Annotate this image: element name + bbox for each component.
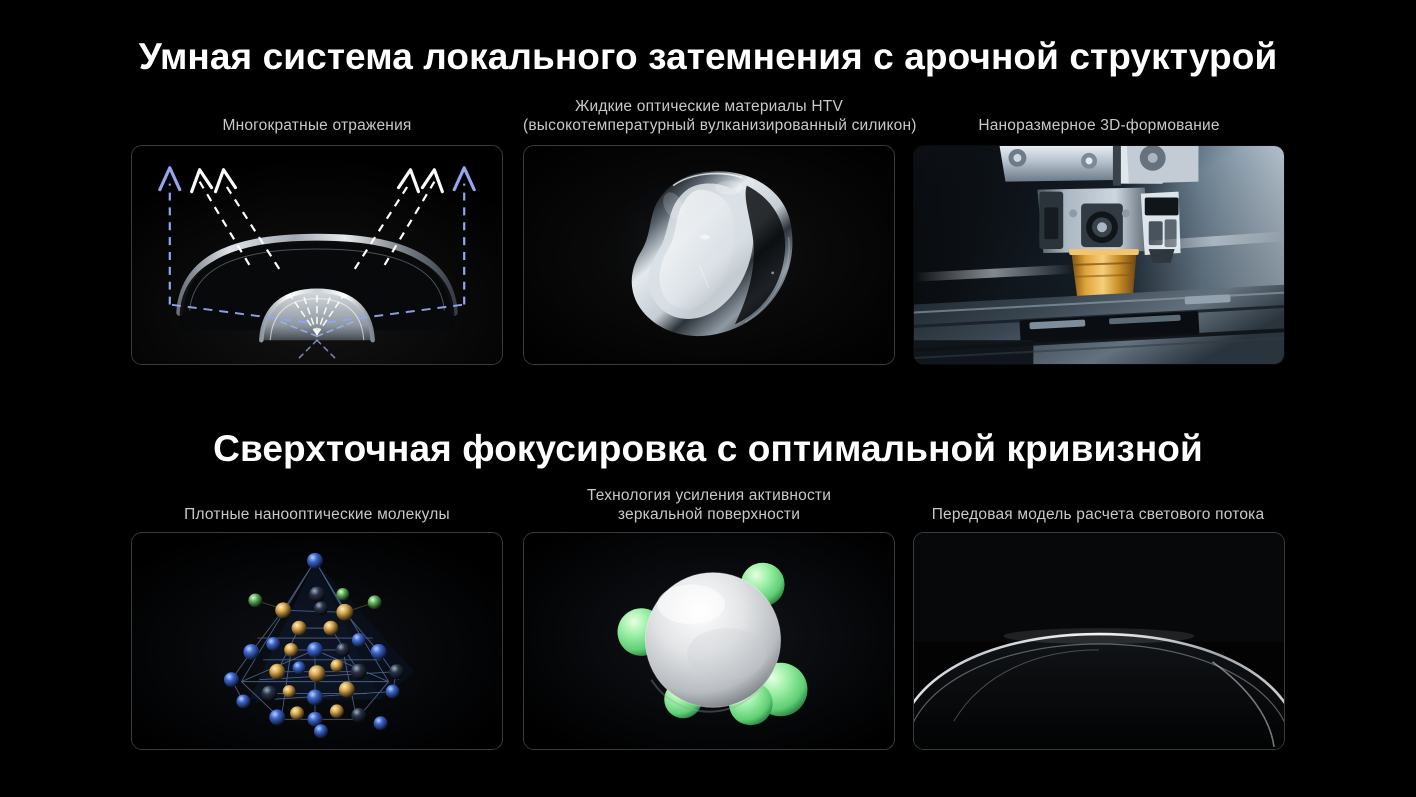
card-image-nano-molding bbox=[913, 145, 1285, 365]
liquid-silicone-droplet-icon bbox=[524, 146, 894, 364]
caption-line-1: Технология усиления активности bbox=[523, 486, 895, 505]
slide-root: Умная система локального затемнения с ар… bbox=[0, 0, 1416, 797]
nano-molecule-lattice-icon bbox=[132, 533, 502, 749]
card-image-light-flux-model bbox=[913, 532, 1285, 750]
caption-line-1: Жидкие оптические материалы HTV bbox=[523, 97, 895, 116]
section-2-title: Сверхточная фокусировка с оптимальной кр… bbox=[0, 428, 1416, 470]
caption-line-1: Передовая модель расчета светового поток… bbox=[907, 505, 1289, 524]
caption-line-2: зеркальной поверхности bbox=[523, 505, 895, 524]
card-caption-nano-molding: Наноразмерное 3D-формование bbox=[913, 116, 1285, 135]
card-caption-multiple-reflections: Многократные отражения bbox=[131, 116, 503, 135]
card-image-multiple-reflections bbox=[131, 145, 503, 365]
card-caption-nano-molecules: Плотные нанооптические молекулы bbox=[131, 505, 503, 524]
caption-line-1: Наноразмерное 3D-формование bbox=[913, 116, 1285, 135]
curved-lens-dome-icon bbox=[914, 533, 1284, 749]
caption-line-1: Плотные нанооптические молекулы bbox=[131, 505, 503, 524]
card-caption-liquid-silicone: Жидкие оптические материалы HTV (высокот… bbox=[523, 97, 895, 135]
section-1-title: Умная система локального затемнения с ар… bbox=[0, 36, 1416, 78]
green-molecule-sphere-icon bbox=[524, 533, 894, 749]
card-caption-light-flux-model: Передовая модель расчета светового поток… bbox=[907, 505, 1289, 524]
card-image-liquid-silicone bbox=[523, 145, 895, 365]
caption-line-2: (высокотемпературный вулканизированный с… bbox=[523, 116, 895, 135]
card-image-mirror-activity bbox=[523, 532, 895, 750]
card-image-nano-molecules bbox=[131, 532, 503, 750]
cnc-nano-molding-machine-icon bbox=[914, 146, 1284, 364]
card-caption-mirror-activity: Технология усиления активности зеркально… bbox=[523, 486, 895, 524]
caption-line-1: Многократные отражения bbox=[131, 116, 503, 135]
multiple-reflections-diagram-icon bbox=[132, 146, 502, 364]
